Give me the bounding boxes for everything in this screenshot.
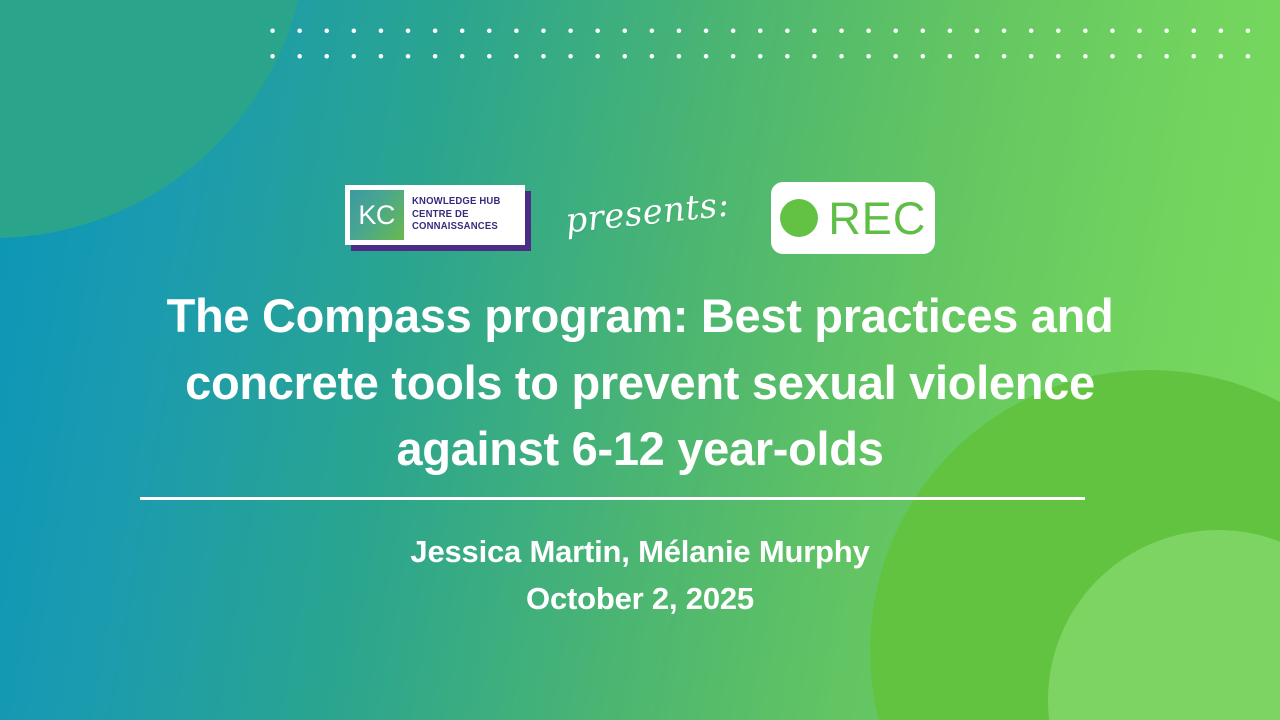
presentation-date: October 2, 2025 — [0, 575, 1280, 622]
knowledge-hub-wordmark: KNOWLEDGE HUB CENTRE DE CONNAISSANCES — [412, 196, 500, 234]
knowledge-hub-line-3: CONNAISSANCES — [412, 221, 500, 234]
title-line-3: against 6-12 year-olds — [100, 416, 1180, 483]
rec-logo: REC — [771, 182, 935, 254]
title-slide: KC KNOWLEDGE HUB CENTRE DE CONNAISSANCES… — [0, 0, 1280, 720]
kc-badge-label: KC — [358, 202, 395, 229]
knowledge-hub-logo: KC KNOWLEDGE HUB CENTRE DE CONNAISSANCES — [345, 185, 531, 251]
rec-logo-label: REC — [828, 196, 926, 241]
kc-badge: KC — [350, 190, 404, 240]
title-line-2: concrete tools to prevent sexual violenc… — [100, 350, 1180, 417]
logo-row: KC KNOWLEDGE HUB CENTRE DE CONNAISSANCES… — [0, 178, 1280, 258]
divider — [140, 497, 1085, 500]
presenter-block: Jessica Martin, Mélanie Murphy October 2… — [0, 528, 1280, 622]
presents-label: presents: — [563, 185, 731, 242]
knowledge-hub-line-1: KNOWLEDGE HUB — [412, 196, 500, 209]
decorative-dot-grid — [259, 18, 1259, 74]
knowledge-hub-line-2: CENTRE DE — [412, 209, 500, 222]
title-line-1: The Compass program: Best practices and — [100, 283, 1180, 350]
record-dot-icon — [780, 199, 818, 237]
page-title: The Compass program: Best practices and … — [100, 283, 1180, 483]
knowledge-hub-logo-card: KC KNOWLEDGE HUB CENTRE DE CONNAISSANCES — [345, 185, 525, 245]
speaker-names: Jessica Martin, Mélanie Murphy — [0, 528, 1280, 575]
